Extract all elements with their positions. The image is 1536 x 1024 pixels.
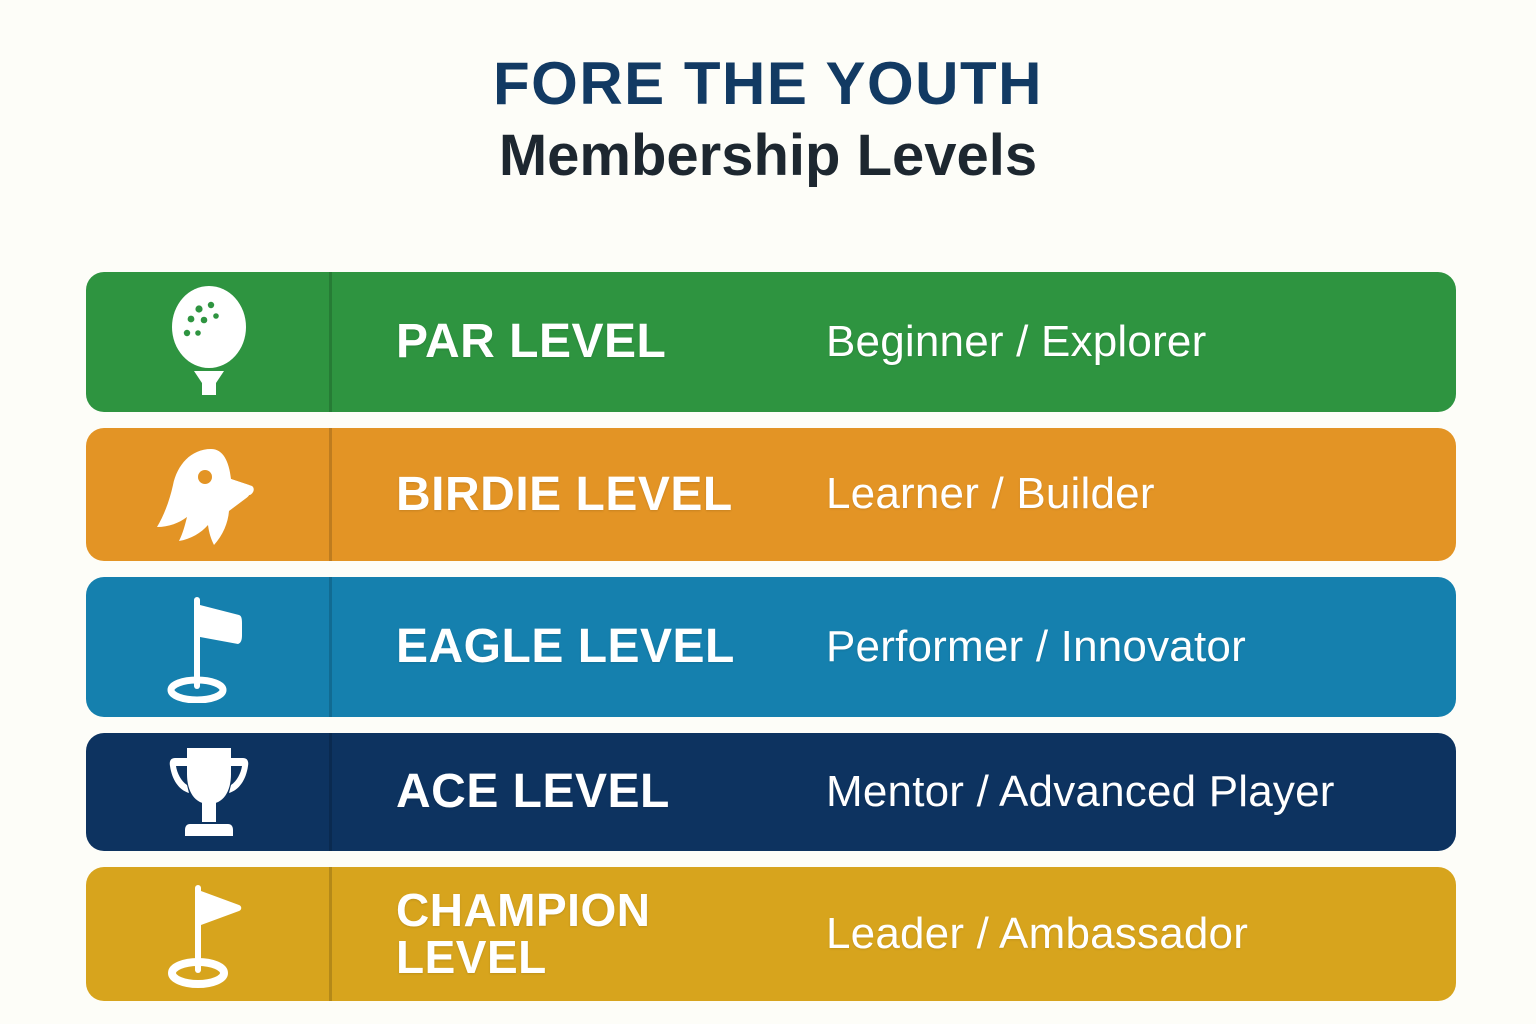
level-row-champion[interactable]: CHAMPION LEVEL Leader / Ambassador [86,867,1456,1001]
eagle-head-icon [153,443,265,547]
level-row-birdie[interactable]: BIRDIE LEVEL Learner / Builder [86,428,1456,561]
page-subtitle: Membership Levels [0,123,1536,190]
level-icon-container-eagle [86,577,332,717]
header: FORE THE YOUTH Membership Levels [0,52,1536,190]
golf-flag-in-hole-icon [163,591,255,703]
trophy-icon [157,740,261,844]
level-row-par[interactable]: PAR LEVEL Beginner / Explorer [86,272,1456,412]
membership-levels-infographic: FORE THE YOUTH Membership Levels [0,0,1536,1024]
golf-pennant-flag-icon [165,879,253,989]
level-row-eagle[interactable]: EAGLE LEVEL Performer / Innovator [86,577,1456,717]
levels-list: PAR LEVEL Beginner / Explorer BIRDIE LEV… [86,272,1456,1017]
level-name-ace: ACE LEVEL [396,768,826,816]
level-row-ace[interactable]: ACE LEVEL Mentor / Advanced Player [86,733,1456,851]
level-description-par: Beginner / Explorer [826,319,1206,365]
level-icon-container-champion [86,867,332,1001]
level-body-ace: ACE LEVEL Mentor / Advanced Player [332,733,1456,851]
level-icon-container-birdie [86,428,332,561]
level-icon-container-ace [86,733,332,851]
level-description-ace: Mentor / Advanced Player [826,769,1335,815]
level-description-eagle: Performer / Innovator [826,624,1246,670]
level-name-eagle: EAGLE LEVEL [396,623,826,671]
level-description-birdie: Learner / Builder [826,471,1155,517]
level-icon-container-par [86,272,332,412]
level-description-champion: Leader / Ambassador [826,911,1248,957]
level-body-par: PAR LEVEL Beginner / Explorer [332,272,1456,412]
level-body-birdie: BIRDIE LEVEL Learner / Builder [332,428,1456,561]
level-name-champion: CHAMPION LEVEL [396,887,826,981]
page-title: FORE THE YOUTH [0,52,1536,115]
level-name-birdie: BIRDIE LEVEL [396,471,826,519]
level-body-champion: CHAMPION LEVEL Leader / Ambassador [332,867,1456,1001]
level-body-eagle: EAGLE LEVEL Performer / Innovator [332,577,1456,717]
level-name-par: PAR LEVEL [396,318,826,366]
golf-ball-on-tee-icon [161,283,257,401]
